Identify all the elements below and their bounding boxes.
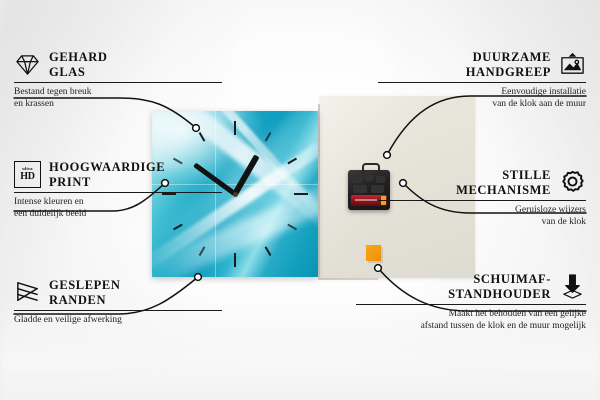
feature-divider: [14, 310, 222, 311]
feature-gehard-glas: GEHARD GLAS Bestand tegen breuk en krass…: [14, 50, 222, 110]
callout-endpoint-gehard-glas: [193, 125, 200, 132]
diamond-icon: [14, 51, 41, 78]
infographic-canvas: GEHARD GLAS Bestand tegen breuk en krass…: [0, 0, 600, 400]
feature-title: GESLEPEN RANDEN: [49, 278, 121, 307]
bevelled-edges-icon: [14, 279, 41, 306]
feature-title: DUURZAME HANDGREEP: [466, 50, 551, 79]
feature-divider: [378, 82, 586, 83]
feature-hoogwaardige-print: ultra HD HOOGWAARDIGE PRINT Intense kleu…: [14, 160, 222, 220]
feature-description: Geruisloze wijzers van de klok: [378, 205, 586, 228]
feature-header: ultra HD HOOGWAARDIGE PRINT: [14, 160, 222, 189]
feature-description: Bestand tegen breuk en krassen: [14, 87, 222, 110]
feature-divider: [14, 82, 222, 83]
feature-stille-mechanisme: STILLE MECHANISME Geruisloze wijzers van…: [378, 168, 586, 228]
callout-endpoint-duurzame-handgreep: [384, 152, 391, 159]
feature-title: HOOGWAARDIGE PRINT: [49, 160, 165, 189]
feature-divider: [378, 200, 586, 201]
feature-header: SCHUIMAF- STANDHOUDER: [356, 272, 586, 301]
feature-geslepen-randen: GESLEPEN RANDEN Gladde en veilige afwerk…: [14, 278, 222, 327]
feature-header: STILLE MECHANISME: [378, 168, 586, 197]
framed-picture-icon: [559, 51, 586, 78]
feature-title: STILLE MECHANISME: [456, 168, 551, 197]
feature-divider: [14, 192, 222, 193]
feature-schuimafstandhouder: SCHUIMAF- STANDHOUDER Maakt het behouden…: [356, 272, 586, 332]
feature-description: Intense kleuren en een duidelijk beeld: [14, 197, 222, 220]
ultra-hd-icon: ultra HD: [14, 161, 41, 188]
feature-description: Gladde en veilige afwerking: [14, 315, 222, 327]
feature-duurzame-handgreep: DUURZAME HANDGREEP Eenvoudige installati…: [378, 50, 586, 110]
feature-header: DUURZAME HANDGREEP: [378, 50, 586, 79]
callout-endpoint-schuimafstandhouder: [375, 265, 382, 272]
gear-icon: [559, 169, 586, 196]
feature-description: Eenvoudige installatie van de klok aan d…: [378, 87, 586, 110]
feature-title: GEHARD GLAS: [49, 50, 107, 79]
feature-header: GEHARD GLAS: [14, 50, 222, 79]
feature-title: SCHUIMAF- STANDHOUDER: [448, 272, 551, 301]
feature-header: GESLEPEN RANDEN: [14, 278, 222, 307]
feature-divider: [356, 304, 586, 305]
feature-description: Maakt het behouden van een gelijke afsta…: [356, 309, 586, 332]
down-arrow-spacer-icon: [559, 273, 586, 300]
